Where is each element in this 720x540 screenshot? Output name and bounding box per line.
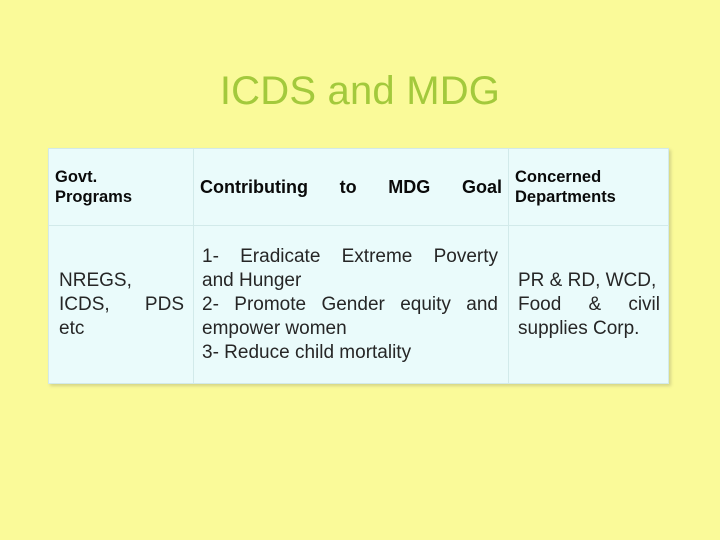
cell-line: NREGS, [59, 269, 184, 293]
cell-govt-programs-text: NREGS, ICDS, PDS etc [49, 269, 193, 341]
goal-line: 1- Eradicate Extreme Poverty [202, 245, 498, 269]
table-header-concerned-departments: Concerned Departments [509, 149, 669, 226]
table-header-govt-programs: Govt. Programs [49, 149, 194, 226]
goal-line: and Hunger [202, 269, 498, 293]
goal-line: 2- Promote Gender equity and [202, 293, 498, 317]
header-line: Contributing to MDG Goal [200, 176, 502, 198]
icds-mdg-table: Govt. Programs Contributing to MDG Goal … [48, 148, 669, 384]
page-title: ICDS and MDG [0, 68, 720, 114]
goal-line: empower women [202, 317, 498, 341]
slide-canvas: ICDS and MDG Govt. Programs Contributing… [0, 0, 720, 540]
goal-item-3: 3- Reduce child mortality [202, 341, 498, 365]
table-header-contributing-mdg-goal-text: Contributing to MDG Goal [194, 176, 508, 198]
header-line: Concerned [515, 167, 662, 187]
header-line: Govt. [55, 167, 187, 187]
cell-line: supplies Corp. [518, 317, 660, 341]
goal-item-2: 2- Promote Gender equity and empower wom… [202, 293, 498, 341]
cell-contributing-mdg-goal: 1- Eradicate Extreme Poverty and Hunger … [194, 226, 509, 384]
table-header-row: Govt. Programs Contributing to MDG Goal … [49, 149, 669, 226]
table-header-concerned-departments-text: Concerned Departments [509, 167, 668, 207]
cell-concerned-departments: PR & RD, WCD, Food & civil supplies Corp… [509, 226, 669, 384]
cell-line: Food & civil [518, 293, 660, 317]
table-header-contributing-mdg-goal: Contributing to MDG Goal [194, 149, 509, 226]
header-line: Programs [55, 187, 187, 207]
goal-item-1: 1- Eradicate Extreme Poverty and Hunger [202, 245, 498, 293]
cell-line: ICDS, PDS [59, 293, 184, 317]
cell-contributing-mdg-goal-text: 1- Eradicate Extreme Poverty and Hunger … [194, 245, 508, 365]
cell-govt-programs: NREGS, ICDS, PDS etc [49, 226, 194, 384]
cell-concerned-departments-text: PR & RD, WCD, Food & civil supplies Corp… [509, 269, 668, 341]
table-row: NREGS, ICDS, PDS etc 1- Eradicate Extrem… [49, 226, 669, 384]
goal-line: 3- Reduce child mortality [202, 341, 498, 365]
cell-line: etc [59, 317, 184, 341]
table-header-govt-programs-text: Govt. Programs [49, 167, 193, 207]
header-line: Departments [515, 187, 662, 207]
cell-line: PR & RD, WCD, [518, 269, 660, 293]
